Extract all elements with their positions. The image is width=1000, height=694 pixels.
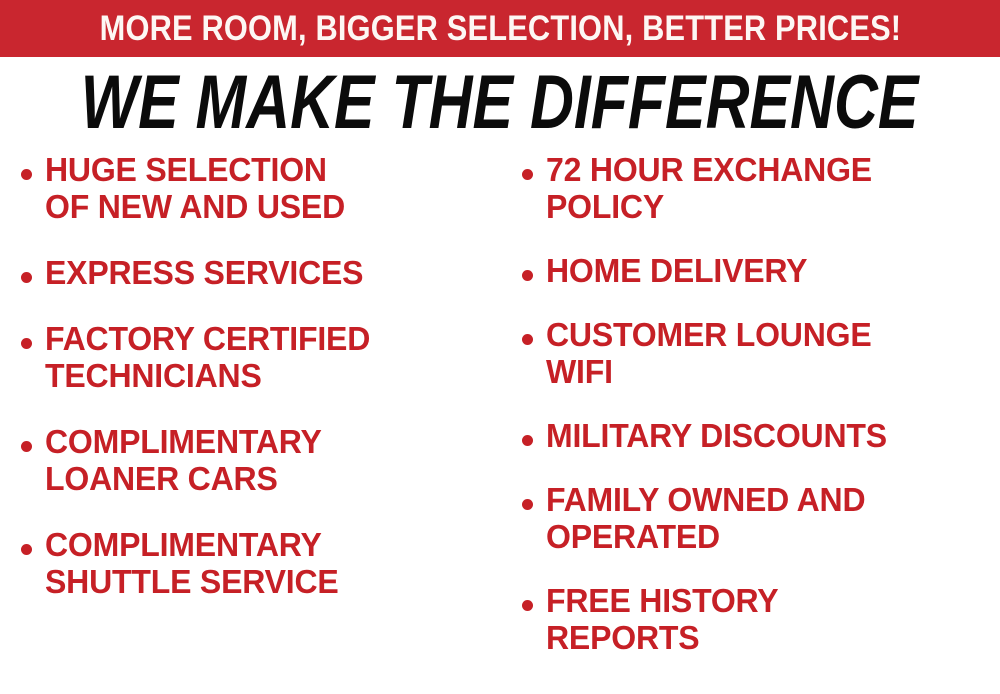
list-item: FACTORY CERTIFIED TECHNICIANS [8,321,500,395]
list-item: EXPRESS SERVICES [8,255,500,292]
bullet-dot-icon [21,544,32,555]
list-item: COMPLIMENTARY LOANER CARS [8,424,500,498]
bullet-dot-icon [21,169,32,180]
list-item-label: FAMILY OWNED AND OPERATED [546,482,986,556]
list-item-label: EXPRESS SERVICES [45,255,486,292]
list-item-label: FACTORY CERTIFIED TECHNICIANS [45,321,486,395]
list-item: HUGE SELECTION OF NEW AND USED [8,152,500,226]
list-item: COMPLIMENTARY SHUTTLE SERVICE [8,527,500,601]
promotional-poster: MORE ROOM, BIGGER SELECTION, BETTER PRIC… [0,0,1000,694]
list-item: FREE HISTORY REPORTS [508,583,1000,657]
list-item-label: CUSTOMER LOUNGE WIFI [546,317,986,391]
list-item: 72 HOUR EXCHANGE POLICY [508,152,1000,226]
headline-text: WE MAKE THE DIFFERENCE [81,65,919,141]
list-item-label: 72 HOUR EXCHANGE POLICY [546,152,986,226]
list-item-label: COMPLIMENTARY LOANER CARS [45,424,486,498]
bullet-dot-icon [522,270,533,281]
top-banner: MORE ROOM, BIGGER SELECTION, BETTER PRIC… [0,0,1000,57]
list-item: HOME DELIVERY [508,253,1000,290]
features-column-right: 72 HOUR EXCHANGE POLICY HOME DELIVERY CU… [508,152,1000,694]
list-item: FAMILY OWNED AND OPERATED [508,482,1000,556]
bullet-dot-icon [21,338,32,349]
list-item-label: HUGE SELECTION OF NEW AND USED [45,152,486,226]
list-item-label: FREE HISTORY REPORTS [546,583,986,657]
headline: WE MAKE THE DIFFERENCE [0,57,1000,149]
features-column-left: HUGE SELECTION OF NEW AND USED EXPRESS S… [8,152,500,694]
list-item-label: HOME DELIVERY [546,253,986,290]
list-item: MILITARY DISCOUNTS [508,418,1000,455]
bullet-dot-icon [522,600,533,611]
bullet-dot-icon [522,169,533,180]
bullet-dot-icon [522,499,533,510]
bullet-dot-icon [522,334,533,345]
bullet-dot-icon [21,272,32,283]
list-item-label: COMPLIMENTARY SHUTTLE SERVICE [45,527,486,601]
list-item-label: MILITARY DISCOUNTS [546,418,986,455]
top-banner-text: MORE ROOM, BIGGER SELECTION, BETTER PRIC… [99,11,901,46]
bullet-dot-icon [21,441,32,452]
list-item: CUSTOMER LOUNGE WIFI [508,317,1000,391]
bullet-dot-icon [522,435,533,446]
features-columns: HUGE SELECTION OF NEW AND USED EXPRESS S… [0,152,1000,694]
